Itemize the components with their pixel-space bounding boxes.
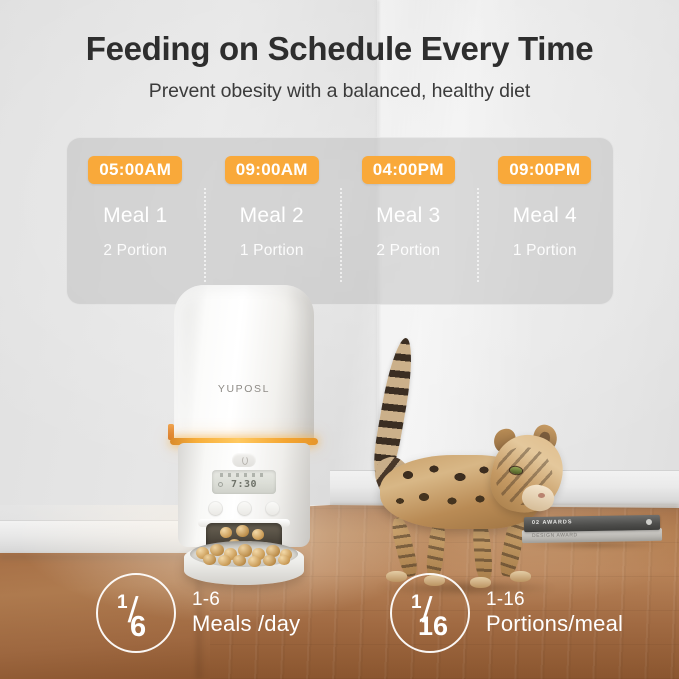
meal-name: Meal 4 [513,204,577,228]
power-icon[interactable] [232,453,256,467]
page-subtitle: Prevent obesity with a balanced, healthy… [0,80,679,103]
meal-time-badge: 09:00PM [498,156,591,184]
stat-unit: Portions/meal [486,611,623,637]
stat-text-block: 1-16 Portions/meal [486,589,623,637]
meal-name: Meal 2 [240,204,304,228]
fraction-circle-badge: 1 / 6 [96,573,176,653]
meal-column: 09:00AM Meal 2 1 Portion [204,138,341,304]
award-card-upper: 02 AWARDS [524,515,660,532]
stat-meals-per-day: 1 / 6 1-6 Meals /day [96,573,300,653]
lcd-time-value: 7:30 [231,479,257,490]
fraction-circle-badge: 1 / 16 [390,573,470,653]
page-title: Feeding on Schedule Every Time [0,30,679,68]
stat-portions-per-meal: 1 / 16 1-16 Portions/meal [390,573,623,653]
lcd-status-dot-icon [218,482,223,487]
meal-time-badge: 04:00PM [362,156,455,184]
meal-time-badge: 09:00AM [225,156,319,184]
feeder-button-right[interactable] [265,501,280,516]
cat-nose [538,493,545,498]
fraction-denominator: 6 [130,611,146,644]
bengal-cat [370,335,590,535]
feeder-button-center[interactable] [237,501,252,516]
pet-feeder-device: YUPOSL 7:30 [168,285,320,580]
feeder-lcd-display: 7:30 [212,470,276,494]
feeder-control-row [208,501,280,516]
stat-text-block: 1-6 Meals /day [192,589,300,637]
schedule-panel: 05:00AM Meal 1 2 Portion 09:00AM Meal 2 … [66,137,614,305]
award-card-label: 02 AWARDS [532,519,573,526]
meal-column: 09:00PM Meal 4 1 Portion [477,138,614,304]
lcd-tick-marks [220,473,268,477]
meal-time-badge: 05:00AM [88,156,182,184]
meal-portion: 1 Portion [513,242,577,260]
award-card-subtext: DESIGN AWARD [532,532,578,539]
feeder-bowl-inner [190,541,298,567]
feeder-hopper [174,285,314,445]
stat-range: 1-16 [486,589,623,611]
fraction-numerator: 1 [117,592,128,614]
fraction-denominator: 16 [418,611,448,642]
meal-column: 04:00PM Meal 3 2 Portion [340,138,477,304]
meal-portion: 2 Portion [103,242,167,260]
meal-name: Meal 3 [376,204,440,228]
feeder-button-left[interactable] [208,501,223,516]
promo-image-scene: Feeding on Schedule Every Time Prevent o… [0,0,679,679]
meal-name: Meal 1 [103,204,167,228]
meal-column: 05:00AM Meal 1 2 Portion [67,138,204,304]
award-card-dot-icon [646,519,652,525]
meal-portion: 2 Portion [376,242,440,260]
stat-range: 1-6 [192,589,300,611]
meal-portion: 1 Portion [240,242,304,260]
feeder-brand-label: YUPOSL [168,383,320,395]
stat-unit: Meals /day [192,611,300,637]
